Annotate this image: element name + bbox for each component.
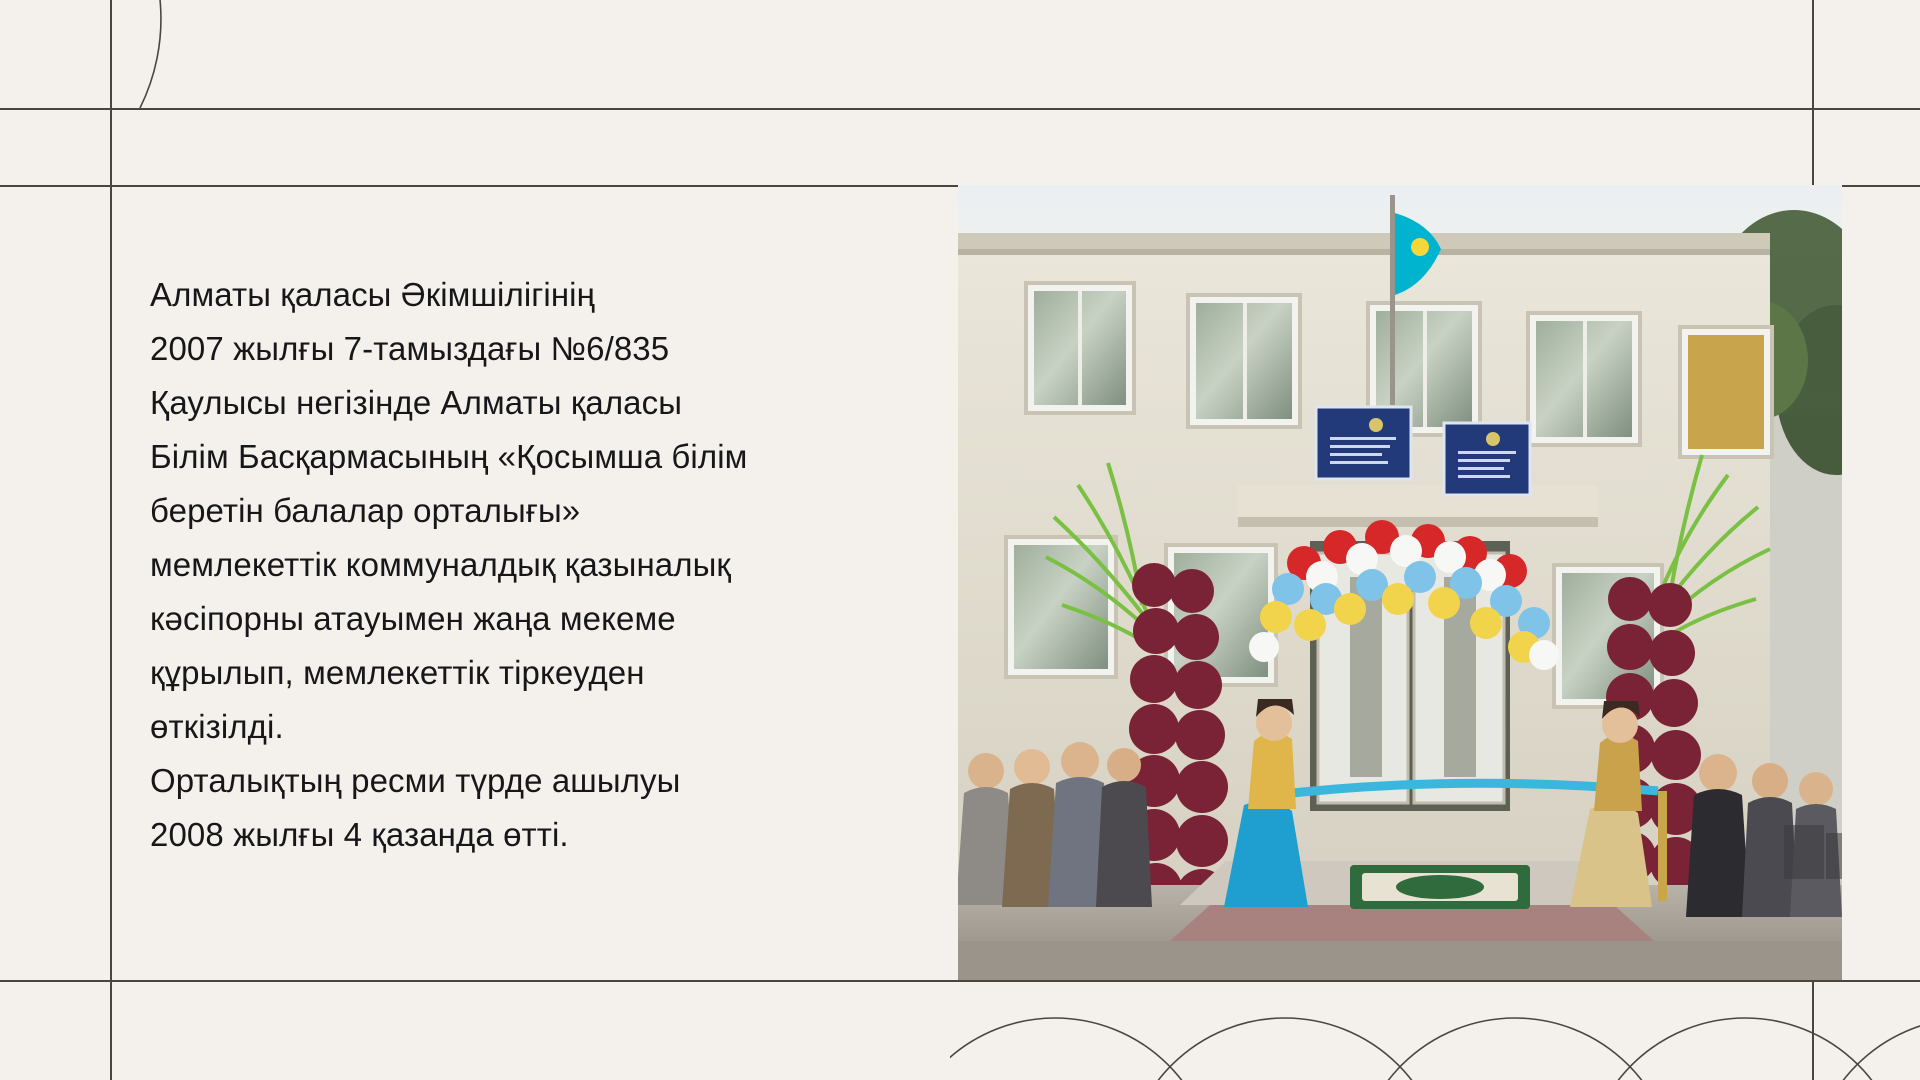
decorative-arcs-top-left [0,0,230,120]
text-line: Білім Басқармасының «Қосымша білім [150,430,940,484]
opening-ceremony-photo [958,185,1842,980]
slide: Алматы қаласы Әкімшілігінің 2007 жылғы 7… [0,0,1920,1080]
text-line: Орталықтың ресми түрде ашылуы [150,754,940,808]
body-text-block: Алматы қаласы Әкімшілігінің 2007 жылғы 7… [150,268,940,862]
text-line: 2008 жылғы 4 қазанда өтті. [150,808,940,862]
text-line: Қаулысы негізінде Алматы қаласы [150,376,940,430]
text-line: Алматы қаласы Әкімшілігінің [150,268,940,322]
guide-line-horizontal-bottom [0,980,1920,982]
text-line: мемлекеттік коммуналдық қазыналық [150,538,940,592]
guide-line-horizontal-top [0,108,1920,110]
text-line: кәсіпорны атауымен жаңа мекеме [150,592,940,646]
text-line: 2007 жылғы 7-тамыздағы №6/835 [150,322,940,376]
text-line: өткізілді. [150,700,940,754]
guide-line-vertical-left [110,0,112,1080]
text-line: құрылып, мемлекеттік тіркеуден [150,646,940,700]
text-line: беретін балалар орталығы» [150,484,940,538]
decorative-arcs-bottom [950,978,1920,1080]
